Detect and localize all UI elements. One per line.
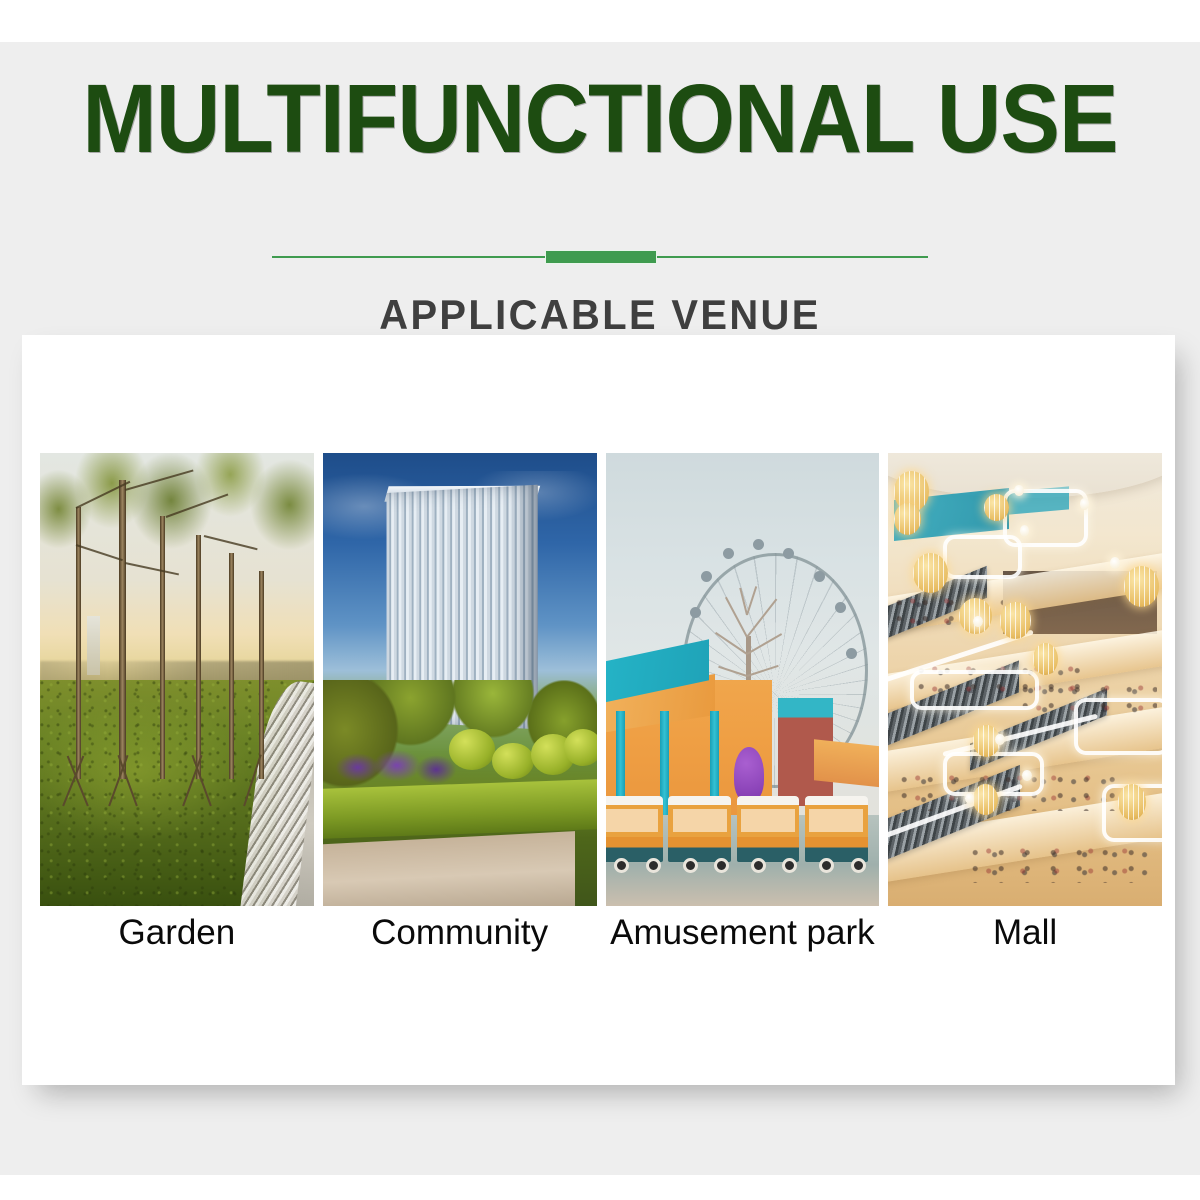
bare-tree-branch xyxy=(739,588,748,615)
venue-label-community: Community xyxy=(323,915,597,950)
bare-tree-branch xyxy=(715,632,747,655)
community-hedge xyxy=(323,779,597,838)
poster-header: MULTIFUNCTIONAL USE APPLICABLE VENUE xyxy=(0,42,1200,332)
mall-orb-light xyxy=(1014,485,1024,496)
community-photo xyxy=(323,453,597,906)
amusement-park-photo xyxy=(606,453,880,906)
mall-shoppers xyxy=(970,843,1151,884)
mall-globe-ornament xyxy=(984,494,1009,521)
train-wheel xyxy=(819,858,834,873)
mall-globe-ornament xyxy=(1124,566,1160,607)
train-window xyxy=(673,809,727,831)
venue-item-mall[interactable]: Mall xyxy=(888,453,1162,906)
venue-gallery: Garden Community xyxy=(40,453,1162,906)
bare-tree-branch xyxy=(746,665,778,677)
garden-tree-trunk xyxy=(119,480,126,779)
venue-label-mall: Mall xyxy=(888,915,1162,950)
ferris-wheel-pod xyxy=(814,571,825,582)
train-wheel xyxy=(683,858,698,873)
content-card: Garden Community xyxy=(22,335,1175,1085)
train-wheel xyxy=(782,858,797,873)
garden-tree-trunk xyxy=(160,516,165,779)
garden-tree-trunk xyxy=(229,553,234,780)
bare-tree-branch xyxy=(746,633,782,655)
mall-globe-ornament xyxy=(1000,602,1030,638)
mall-orb-light xyxy=(1020,525,1030,536)
garden-tree-group xyxy=(40,453,314,906)
train-window xyxy=(606,809,659,831)
garden-photo xyxy=(40,453,314,906)
venue-item-amusement-park[interactable]: Amusement park xyxy=(606,453,880,906)
train-wheel xyxy=(851,858,866,873)
garden-tree-stake xyxy=(117,755,137,807)
section-subtitle: APPLICABLE VENUE xyxy=(30,294,1170,336)
community-shrub xyxy=(492,743,533,779)
train-wheel xyxy=(714,858,729,873)
ferris-wheel-pod xyxy=(723,548,734,559)
mall-light-ring xyxy=(1074,698,1162,756)
garden-tree-stake xyxy=(243,754,262,806)
mall-globe-ornament xyxy=(894,503,921,535)
bare-tree-branch xyxy=(718,666,747,677)
mall-light-ring xyxy=(943,535,1022,579)
mall-orb-light xyxy=(1080,498,1090,509)
mall-orb-light xyxy=(973,616,983,627)
garden-tree-trunk xyxy=(196,535,201,780)
bare-tree-branch xyxy=(746,586,757,615)
garden-tree-stake xyxy=(62,756,84,807)
title-divider xyxy=(272,250,928,264)
park-far-roof xyxy=(814,739,880,787)
train-window xyxy=(809,809,863,831)
mall-photo xyxy=(888,453,1162,906)
venue-item-garden[interactable]: Garden xyxy=(40,453,314,906)
venue-label-garden: Garden xyxy=(40,915,314,950)
train-window xyxy=(741,809,795,831)
community-flower-bed xyxy=(334,747,465,788)
poster-page: MULTIFUNCTIONAL USE APPLICABLE VENUE xyxy=(0,0,1200,1200)
tourist-train xyxy=(606,784,880,875)
community-walkway xyxy=(323,831,575,906)
train-wheel xyxy=(751,858,766,873)
garden-canopy xyxy=(40,453,314,661)
mall-orb-light xyxy=(995,734,1005,745)
mall-orb-light xyxy=(1110,557,1120,568)
train-wheel xyxy=(646,858,661,873)
venue-label-amusement-park: Amusement park xyxy=(606,915,880,950)
divider-center-bar xyxy=(545,250,657,264)
train-wheel xyxy=(614,858,629,873)
ferris-wheel-pod xyxy=(753,539,764,550)
garden-tree-trunk xyxy=(76,507,81,779)
community-shrub xyxy=(564,729,597,765)
venue-item-community[interactable]: Community xyxy=(323,453,597,906)
mall-globe-ornament xyxy=(973,784,998,816)
mall-globe-ornament xyxy=(1033,643,1058,675)
garden-tree-stake xyxy=(191,755,211,807)
mall-light-ring xyxy=(910,670,1038,710)
garden-tree-trunk xyxy=(259,571,264,779)
page-title: MULTIFUNCTIONAL USE xyxy=(48,70,1152,167)
mall-globe-ornament xyxy=(1118,784,1145,820)
